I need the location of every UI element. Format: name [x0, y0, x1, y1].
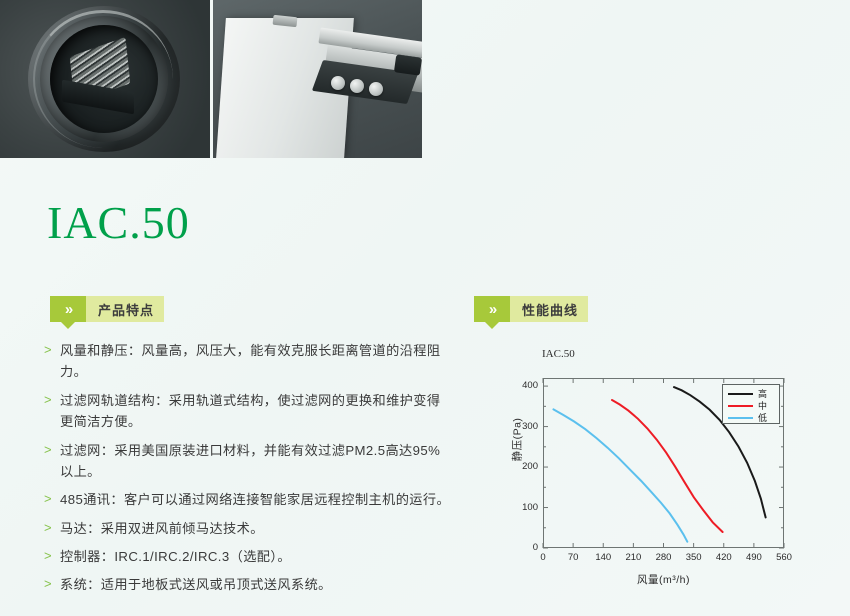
x-tick-label: 0 [530, 552, 556, 563]
chevron-double-right-icon: » [474, 296, 510, 322]
x-tick-label: 420 [711, 552, 737, 563]
legend-item: 中 [728, 401, 775, 411]
feature-list-item: >系统：适用于地板式送风或吊顶式送风系统。 [44, 574, 452, 595]
filter-rail-assembly-photo [213, 0, 422, 158]
legend-label: 高 [758, 390, 767, 399]
x-tick-label: 70 [560, 552, 586, 563]
legend-color-swatch [728, 417, 753, 419]
rail-fastener-icon [350, 79, 364, 93]
chart-series-中 [612, 400, 723, 532]
chevron-glyph: » [489, 302, 495, 317]
chart-x-axis-label: 风量(m³/h) [543, 572, 784, 587]
x-tick-label: 140 [590, 552, 616, 563]
feature-text: 控制器：IRC.1/IRC.2/IRC.3（选配）。 [60, 546, 291, 567]
bullet-arrow-icon: > [44, 440, 60, 483]
feature-list-item: >过滤网：采用美国原装进口材料，并能有效过滤PM2.5高达95%以上。 [44, 440, 452, 483]
y-tick-label: 300 [508, 421, 538, 432]
feature-list-item: >风量和静压：风量高，风压大，能有效克服长距离管道的沿程阻力。 [44, 340, 452, 383]
x-tick-label: 280 [651, 552, 677, 563]
feature-text: 485通讯：客户可以通过网络连接智能家居远程控制主机的运行。 [60, 489, 450, 510]
x-tick-label: 210 [620, 552, 646, 563]
bullet-arrow-icon: > [44, 489, 60, 510]
x-tick-label: 560 [771, 552, 797, 563]
chart-series-低 [553, 409, 687, 541]
bullet-arrow-icon: > [44, 518, 60, 539]
chart-legend: 高中低 [722, 384, 780, 424]
feature-text: 过滤网轨道结构：采用轨道式结构，使过滤网的更换和维护变得更简洁方便。 [60, 390, 452, 433]
bullet-arrow-icon: > [44, 574, 60, 595]
chevron-glyph: » [65, 302, 71, 317]
section-header-curve: » 性能曲线 [474, 296, 588, 322]
feature-list-item: >马达：采用双进风前倾马达技术。 [44, 518, 452, 539]
feature-list-item: >485通讯：客户可以通过网络连接智能家居远程控制主机的运行。 [44, 489, 452, 510]
section-header-features: » 产品特点 [50, 296, 164, 322]
bullet-arrow-icon: > [44, 340, 60, 383]
feature-text: 马达：采用双进风前倾马达技术。 [60, 518, 264, 539]
legend-label: 低 [758, 414, 767, 423]
chart-title: IAC.50 [542, 348, 575, 360]
feature-list-item: >过滤网轨道结构：采用轨道式结构，使过滤网的更换和维护变得更简洁方便。 [44, 390, 452, 433]
feature-text: 过滤网：采用美国原装进口材料，并能有效过滤PM2.5高达95%以上。 [60, 440, 452, 483]
bullet-arrow-icon: > [44, 390, 60, 433]
rail-fastener-icon [369, 82, 383, 96]
y-tick-label: 200 [508, 461, 538, 472]
product-photo-strip [0, 0, 850, 158]
feature-text: 系统：适用于地板式送风或吊顶式送风系统。 [60, 574, 332, 595]
duct-fan-inlet-photo [0, 0, 210, 158]
chevron-double-right-icon: » [50, 296, 86, 322]
legend-color-swatch [728, 405, 753, 407]
x-tick-label: 350 [681, 552, 707, 563]
bullet-arrow-icon: > [44, 546, 60, 567]
legend-item: 高 [728, 389, 775, 399]
rail-fastener-icon [331, 76, 345, 90]
section-title-features: 产品特点 [98, 300, 154, 319]
y-tick-label: 100 [508, 502, 538, 513]
y-tick-label: 400 [508, 380, 538, 391]
feature-list: >风量和静压：风量高，风压大，能有效克服长距离管道的沿程阻力。>过滤网轨道结构：… [44, 340, 452, 603]
section-header-band: 性能曲线 [510, 296, 588, 322]
legend-label: 中 [758, 402, 767, 411]
rail-end-clip [394, 54, 422, 75]
duct-rim-highlight [33, 10, 173, 148]
page-title: IAC.50 [47, 200, 190, 246]
feature-text: 风量和静压：风量高，风压大，能有效克服长距离管道的沿程阻力。 [60, 340, 452, 383]
legend-color-swatch [728, 393, 753, 395]
section-title-curve: 性能曲线 [522, 300, 578, 319]
legend-item: 低 [728, 413, 775, 423]
performance-curve-chart: IAC.50 静压(Pa) 风量(m³/h) 0100200300400 070… [490, 340, 835, 592]
section-header-band: 产品特点 [86, 296, 164, 322]
x-tick-label: 490 [741, 552, 767, 563]
feature-list-item: >控制器：IRC.1/IRC.2/IRC.3（选配）。 [44, 546, 452, 567]
